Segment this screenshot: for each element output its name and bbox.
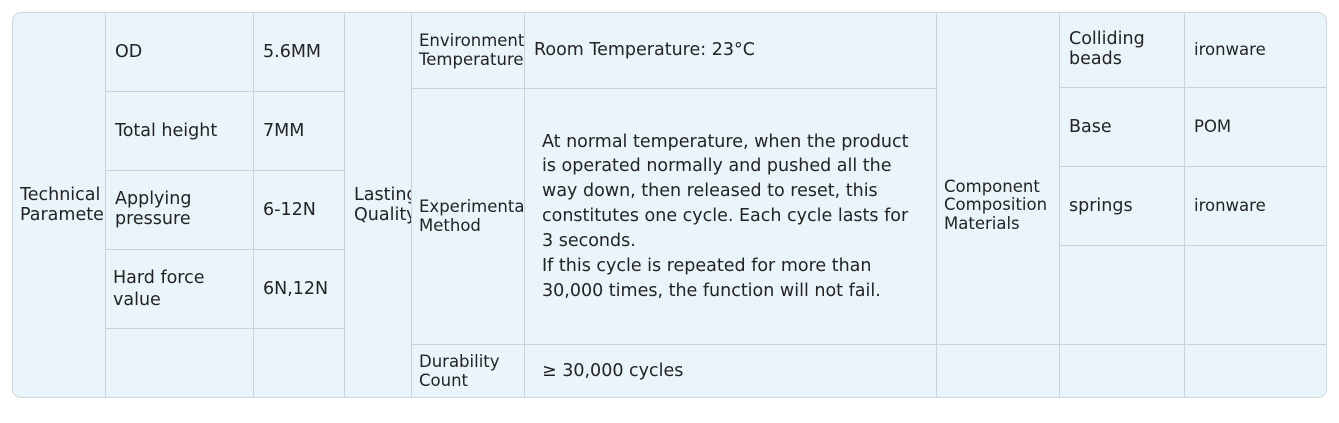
- component-name-springs: springs: [1060, 167, 1184, 245]
- grid-hline-right-1: [1059, 87, 1327, 88]
- component-material-empty-2: [1185, 345, 1327, 398]
- quality-name-environment-temperature: Environment Temperature: [412, 13, 524, 88]
- component-name-empty-2: [1060, 345, 1184, 398]
- grid-hline-left-3: [105, 249, 344, 250]
- quality-value-experimental-method: At normal temperature, when the product …: [525, 89, 936, 344]
- grid-hline-mid-1: [411, 88, 936, 89]
- group-label-lasting-quality: Lasting Quality: [345, 13, 411, 398]
- param-value-hard-force-value: 6N,12N: [254, 250, 344, 328]
- grid-hline-right-4: [1059, 344, 1327, 345]
- component-name-empty-1: [1060, 246, 1184, 344]
- param-name-empty: [106, 329, 253, 398]
- param-value-empty: [254, 329, 344, 398]
- grid-hline-comp-bottom: [936, 344, 1060, 345]
- grid-vline-2: [253, 13, 254, 398]
- param-value-applying-pressure: 6-12N: [254, 171, 344, 249]
- component-name-colliding-beads: Colliding beads: [1060, 13, 1184, 87]
- quality-value-durability-count: ≥ 30,000 cycles: [525, 345, 936, 398]
- grid-vline-3: [344, 13, 345, 398]
- component-material-empty-1: [1185, 246, 1327, 344]
- grid-vline-4: [411, 13, 412, 398]
- quality-value-environment-temperature: Room Temperature: 23°C: [525, 13, 936, 88]
- component-material-springs: ironware: [1185, 167, 1327, 245]
- grid-vline-8: [1184, 13, 1185, 398]
- grid-hline-left-1: [105, 91, 344, 92]
- grid-hline-left-2: [105, 170, 344, 171]
- param-value-od: 5.6MM: [254, 13, 344, 91]
- param-name-hard-force-value: Hard force value: [106, 250, 253, 328]
- param-name-total-height: Total height: [106, 92, 253, 170]
- grid-vline-1: [105, 13, 106, 398]
- param-name-od: OD: [106, 13, 253, 91]
- quality-name-durability-count: Durability Count: [412, 345, 524, 398]
- grid-vline-5: [524, 13, 525, 398]
- quality-name-experimental-method: Experimental Method: [412, 89, 524, 344]
- group-label-component-composition-materials: Component Composition Materials: [937, 13, 1059, 398]
- component-material-base: POM: [1185, 88, 1327, 166]
- component-material-colliding-beads: ironware: [1185, 13, 1327, 87]
- technical-specification-table: Technical Parameters OD 5.6MM Total heig…: [12, 12, 1327, 398]
- grid-hline-right-2: [1059, 166, 1327, 167]
- grid-vline-7: [1059, 13, 1060, 398]
- grid-vline-6: [936, 13, 937, 398]
- component-name-base: Base: [1060, 88, 1184, 166]
- param-name-applying-pressure: Applying pressure: [106, 171, 253, 249]
- grid-hline-left-4: [105, 328, 344, 329]
- group-label-technical-parameters: Technical Parameters: [13, 13, 105, 398]
- param-value-total-height: 7MM: [254, 92, 344, 170]
- grid-hline-mid-2: [411, 344, 936, 345]
- grid-hline-right-3: [1059, 245, 1327, 246]
